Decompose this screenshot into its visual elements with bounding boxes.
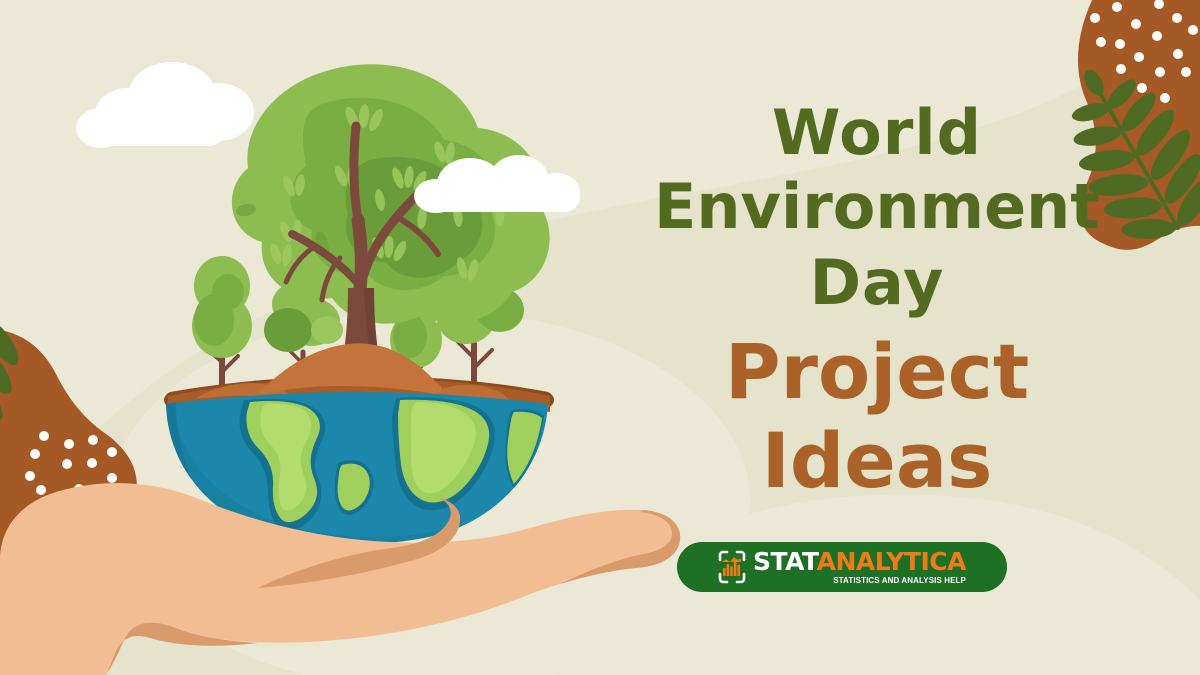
logo-wordmark: STATANALYTICA	[753, 549, 966, 574]
headline-line-world: World	[612, 96, 1142, 170]
logo-tagline: STATISTICS AND ANALYSIS HELP	[833, 577, 966, 585]
poster-canvas: World Environment Day Project Ideas	[0, 0, 1200, 675]
logo-stat-text: STAT	[753, 547, 817, 576]
subhead-line-project: Project	[612, 326, 1142, 418]
statanalytica-logo-badge[interactable]: STATANALYTICA STATISTICS AND ANALYSIS HE…	[677, 542, 1007, 592]
logo-wordmark-group: STATANALYTICA STATISTICS AND ANALYSIS HE…	[753, 549, 966, 585]
bar-chart-in-frame-icon	[718, 550, 746, 584]
small-tree-far-left	[192, 256, 252, 398]
headline-line-environment: Environment	[612, 170, 1142, 244]
subhead-line-ideas: Ideas	[612, 418, 1142, 504]
headline-block: World Environment Day Project Ideas	[612, 96, 1142, 504]
logo-analytica-text: ANALYTICA	[817, 547, 966, 576]
logo-inner: STATANALYTICA STATISTICS AND ANALYSIS HE…	[718, 549, 966, 585]
headline-line-day: Day	[612, 244, 1142, 322]
